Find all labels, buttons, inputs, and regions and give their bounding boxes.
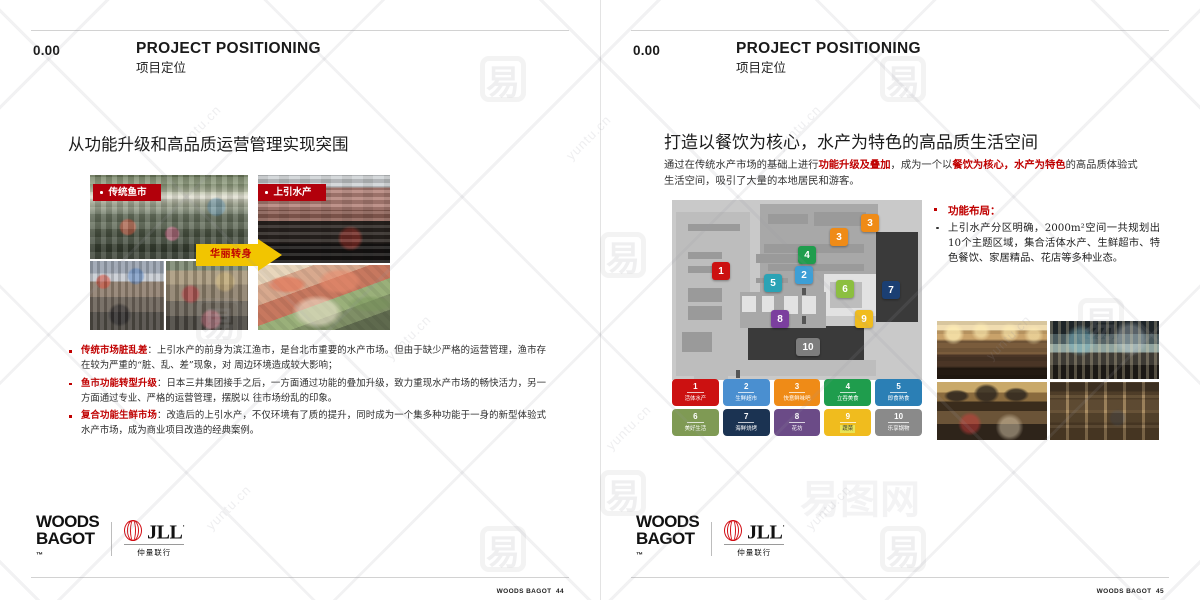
woods-bagot-line1: WOODS <box>636 513 699 530</box>
legend-number: 1 <box>687 382 703 393</box>
intro-part-1: 通过在传统水产市场的基础上进行 <box>664 159 818 171</box>
transformation-arrow-icon: 华丽转身 <box>196 239 282 271</box>
photo-traditional-street-1 <box>90 261 164 330</box>
plan-marker-2: 2 <box>795 266 813 284</box>
plan-marker-6: 6 <box>836 280 854 298</box>
slide-44: 0.00 PROJECT POSITIONING 项目定位 从功能升级和高品质运… <box>0 0 600 600</box>
footer-logos: WOODS BAGOT™ JLL˙ 仲量联行 <box>36 513 184 564</box>
bullet-lead: 复合功能生鲜市场 <box>81 410 157 421</box>
photo-shangyin-seafood <box>258 265 390 330</box>
bullet-sep: ： <box>147 345 157 356</box>
plan-marker-10: 10 <box>796 338 820 356</box>
jll-wordmark: JLL˙ <box>747 519 784 543</box>
logo-divider <box>111 522 112 556</box>
page-number: 45 <box>1156 588 1164 595</box>
legend-label: 乐享锅物 <box>888 425 910 433</box>
legend-number: 10 <box>888 412 909 423</box>
header-rule <box>31 30 569 31</box>
photo-live-seafood-tanks <box>1050 382 1160 440</box>
woods-bagot-logo: WOODS BAGOT™ <box>36 513 99 564</box>
legend-item-8[interactable]: 8花坊 <box>774 409 821 436</box>
legend-label: 生鲜超市 <box>735 395 757 403</box>
legend-number: 3 <box>789 382 805 393</box>
jll-logo: JLL˙ 仲量联行 <box>724 519 784 559</box>
bullet-lead: 传统市场脏乱差 <box>81 345 147 356</box>
floorplan-diagram: 1 2 3 3 4 5 6 7 8 9 10 <box>672 200 922 380</box>
function-layout-heading: 功能布局： <box>932 204 1160 219</box>
arrow-label: 华丽转身 <box>200 247 262 263</box>
slide-header: 0.00 PROJECT POSITIONING 项目定位 <box>0 40 600 86</box>
plan-marker-3a: 3 <box>830 228 848 246</box>
woods-bagot-logo: WOODS BAGOT™ <box>636 513 699 564</box>
section-number: 0.00 <box>633 43 660 58</box>
bullet-item: 复合功能生鲜市场：改造后的上引水产，不仅环境有了质的提升，同时成为一个集多种功能… <box>66 409 546 439</box>
bullet-list: 传统市场脏乱差：上引水产的前身为滨江渔市，是台北市重要的水产市场。但由于缺少严格… <box>66 344 546 442</box>
jll-swirl-icon <box>724 520 743 541</box>
plan-marker-9: 9 <box>855 310 873 328</box>
legend-number: 4 <box>840 382 856 393</box>
plan-marker-4: 4 <box>798 246 816 264</box>
bullet-sep: ： <box>157 410 167 421</box>
legend-number: 5 <box>890 382 906 393</box>
header-rule <box>631 30 1169 31</box>
bullet-item: 鱼市功能转型升级：日本三井集团接手之后，一方面通过功能的叠加升级，致力重现水产市… <box>66 377 546 407</box>
slide-header: 0.00 PROJECT POSITIONING 项目定位 <box>600 40 1200 86</box>
page-footer: WOODS BAGOT 45 <box>1097 588 1164 595</box>
photo-standing-bar <box>1050 321 1160 379</box>
plan-marker-7: 7 <box>882 281 900 299</box>
section-number: 0.00 <box>33 43 60 58</box>
legend-number: 8 <box>789 412 805 423</box>
plan-marker-3b: 3 <box>861 214 879 232</box>
legend-label: 立吞美食 <box>837 395 859 403</box>
function-layout-block: 功能布局： 上引水产分区明确，2000m²空间一共规划出10个主题区域，集合活体… <box>932 204 1160 266</box>
bullet-item: 传统市场脏乱差：上引水产的前身为滨江渔市，是台北市重要的水产市场。但由于缺少严格… <box>66 344 546 374</box>
header-title-en: PROJECT POSITIONING <box>136 40 321 58</box>
woods-bagot-line2: BAGOT™ <box>36 530 99 564</box>
legend-number: 9 <box>840 412 856 423</box>
header-title-cn: 项目定位 <box>136 60 321 75</box>
intro-paragraph: 通过在传统水产市场的基础上进行功能升级及叠加，成为一个以餐饮为核心，水产为特色的… <box>664 158 1144 190</box>
floorplan-legend: 1活体水产 2生鲜超市 3快意鲜味吧 4立吞美食 5即食熟食 6美好生活 7海鲜… <box>672 379 922 436</box>
legend-number: 6 <box>687 412 703 423</box>
legend-number: 7 <box>738 412 754 423</box>
photo-dining-hall <box>937 382 1047 440</box>
legend-item-4[interactable]: 4立吞美食 <box>824 379 871 406</box>
legend-item-5[interactable]: 5即食熟食 <box>875 379 922 406</box>
page-title: 从功能升级和高品质运营管理实现突围 <box>68 131 349 155</box>
bullet-sep: ： <box>157 378 167 389</box>
plan-marker-5: 5 <box>764 274 782 292</box>
jll-chinese-name: 仲量联行 <box>724 544 784 558</box>
intro-part-2: ，成为一个以 <box>891 159 953 171</box>
jll-chinese-name: 仲量联行 <box>124 544 184 558</box>
photo-sushi-counter <box>937 321 1047 379</box>
legend-item-10[interactable]: 10乐享锅物 <box>875 409 922 436</box>
photo-traditional-street-2 <box>166 261 248 330</box>
intro-highlight-2: 餐饮为核心，水产为特色 <box>952 159 1065 171</box>
function-layout-body: 上引水产分区明确，2000m²空间一共规划出10个主题区域，集合活体水产、生鲜超… <box>932 221 1160 266</box>
legend-label: 即食熟食 <box>888 395 910 403</box>
legend-label: 快意鲜味吧 <box>784 395 811 403</box>
woods-bagot-line1: WOODS <box>36 513 99 530</box>
jll-wordmark: JLL˙ <box>147 519 184 543</box>
legend-item-7[interactable]: 7海鲜烧烤 <box>723 409 770 436</box>
page-footer: WOODS BAGOT 44 <box>497 588 564 595</box>
legend-item-9[interactable]: 9蔬菜 <box>824 409 871 436</box>
legend-label: 美好生活 <box>685 425 707 433</box>
footer-rule <box>631 577 1169 578</box>
plan-marker-8: 8 <box>771 310 789 328</box>
header-title-cn: 项目定位 <box>736 60 921 75</box>
slide-separator <box>600 0 601 600</box>
bullet-lead: 鱼市功能转型升级 <box>81 378 157 389</box>
legend-item-2[interactable]: 2生鲜超市 <box>723 379 770 406</box>
jll-swirl-icon <box>124 520 143 541</box>
slide-45: 0.00 PROJECT POSITIONING 项目定位 打造以餐饮为核心，水… <box>600 0 1200 600</box>
jll-logo: JLL˙ 仲量联行 <box>124 519 184 559</box>
legend-label: 花坊 <box>792 425 803 433</box>
legend-item-6[interactable]: 6美好生活 <box>672 409 719 436</box>
legend-label: 蔬菜 <box>840 425 855 433</box>
legend-label: 海鲜烧烤 <box>735 425 757 433</box>
intro-highlight-1: 功能升级及叠加 <box>818 159 890 171</box>
photo-tag-shangyin-seafood: 上引水产 <box>258 184 326 201</box>
legend-item-3[interactable]: 3快意鲜味吧 <box>774 379 821 406</box>
legend-item-1[interactable]: 1活体水产 <box>672 379 719 406</box>
slide-deck: 0.00 PROJECT POSITIONING 项目定位 从功能升级和高品质运… <box>0 0 1200 600</box>
page-title: 打造以餐饮为核心，水产为特色的高品质生活空间 <box>664 128 1038 153</box>
footer-brand: WOODS BAGOT <box>497 588 552 595</box>
legend-label: 活体水产 <box>685 395 707 403</box>
photo-tag-traditional-market: 传统鱼市 <box>93 184 161 201</box>
logo-divider <box>711 522 712 556</box>
page-number: 44 <box>556 588 564 595</box>
footer-rule <box>31 577 569 578</box>
header-title-en: PROJECT POSITIONING <box>736 40 921 58</box>
plan-marker-1: 1 <box>712 262 730 280</box>
footer-brand: WOODS BAGOT <box>1097 588 1152 595</box>
footer-logos: WOODS BAGOT™ JLL˙ 仲量联行 <box>636 513 784 564</box>
reference-photo-grid <box>937 321 1159 440</box>
legend-number: 2 <box>738 382 754 393</box>
woods-bagot-line2: BAGOT™ <box>636 530 699 564</box>
